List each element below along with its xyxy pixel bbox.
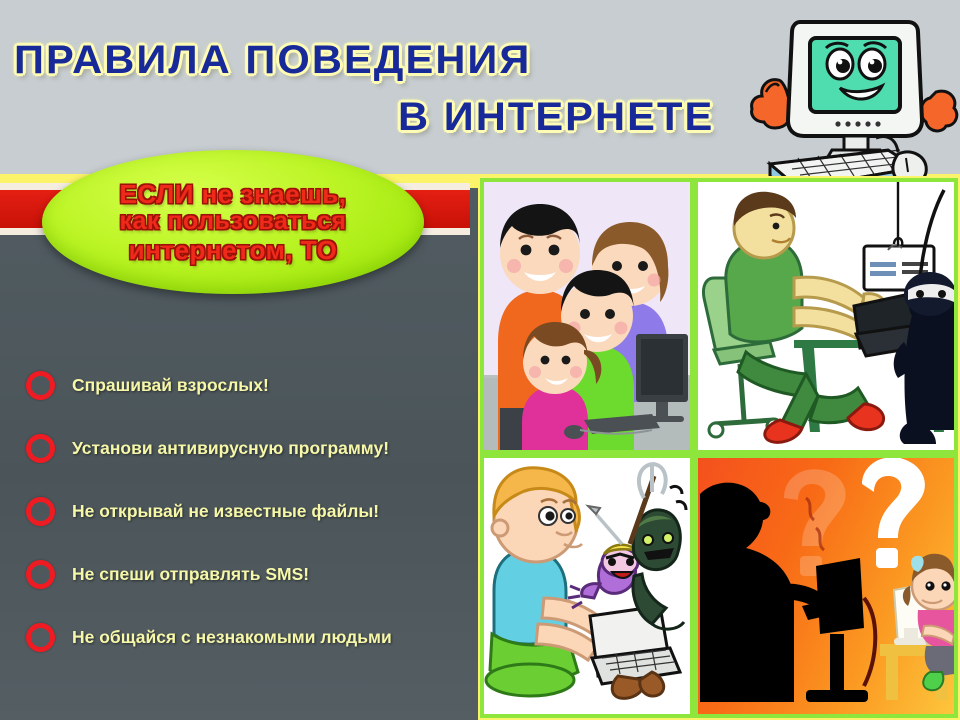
panel-stranger-and-girl [698,458,954,714]
panel-man-laptop-thief [698,182,954,450]
illustration-grid [478,176,960,720]
rule-text: Не открывай не известные файлы! [72,501,379,522]
poster-title: ПРАВИЛА ПОВЕДЕНИЯ В ИНТЕРНЕТЕ [0,0,760,170]
panel-family-at-computer [484,182,690,450]
list-item: Не общайся с незнакомыми людьми [26,610,466,664]
ring-bullet-icon [26,497,55,526]
title-line-1: ПРАВИЛА ПОВЕДЕНИЯ [14,38,531,83]
list-item: Установи антивирусную программу! [26,421,466,475]
rule-text: Не общайся с незнакомыми людьми [72,627,392,648]
callout-line-2: как пользоваться [120,208,347,236]
list-item: Не спеши отправлять SMS! [26,547,466,601]
rule-text: Установи антивирусную программу! [72,438,389,459]
ring-bullet-icon [26,560,55,589]
rule-text: Спрашивай взрослых! [72,375,269,396]
ring-bullet-icon [26,434,55,463]
list-item: Не открывай не известные файлы! [26,484,466,538]
panel-boy-laptop-monsters [484,458,690,714]
callout-line-3: интернетом, ТО [129,236,338,265]
list-item: Спрашивай взрослых! [26,358,466,412]
title-line-2: В ИНТЕРНЕТЕ [398,95,714,140]
rule-text: Не спеши отправлять SMS! [72,564,309,585]
computer-mascot-icon [748,8,960,204]
callout-line-1: ЕСЛИ не знаешь, [120,180,347,209]
callout-oval: ЕСЛИ не знаешь, как пользоваться интерне… [42,150,424,294]
rules-list: Спрашивай взрослых! Установи антивирусну… [26,358,466,673]
ring-bullet-icon [26,371,55,400]
ring-bullet-icon [26,623,55,652]
poster-canvas: ПРАВИЛА ПОВЕДЕНИЯ В ИНТЕРНЕТЕ [0,0,960,720]
